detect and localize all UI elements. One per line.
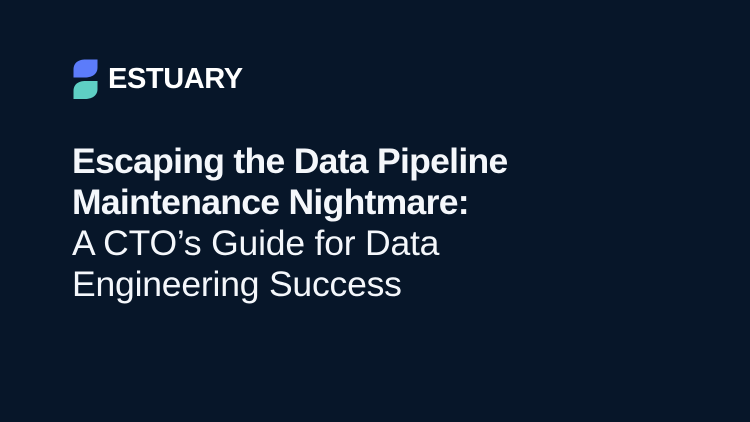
headline-line-2: Maintenance Nightmare: — [72, 182, 612, 223]
brand-logo[interactable]: ESTUARY — [72, 58, 243, 101]
headline-line-1: Escaping the Data Pipeline — [72, 141, 612, 182]
title-card: ESTUARY Escaping the Data Pipeline Maint… — [0, 0, 750, 422]
estuary-leaf-logo-icon — [72, 58, 99, 101]
headline-line-4: Engineering Success — [72, 264, 612, 305]
headline-line-3: A CTO’s Guide for Data — [72, 223, 612, 264]
brand-name: ESTUARY — [108, 65, 243, 94]
page-title: Escaping the Data Pipeline Maintenance N… — [72, 141, 612, 305]
